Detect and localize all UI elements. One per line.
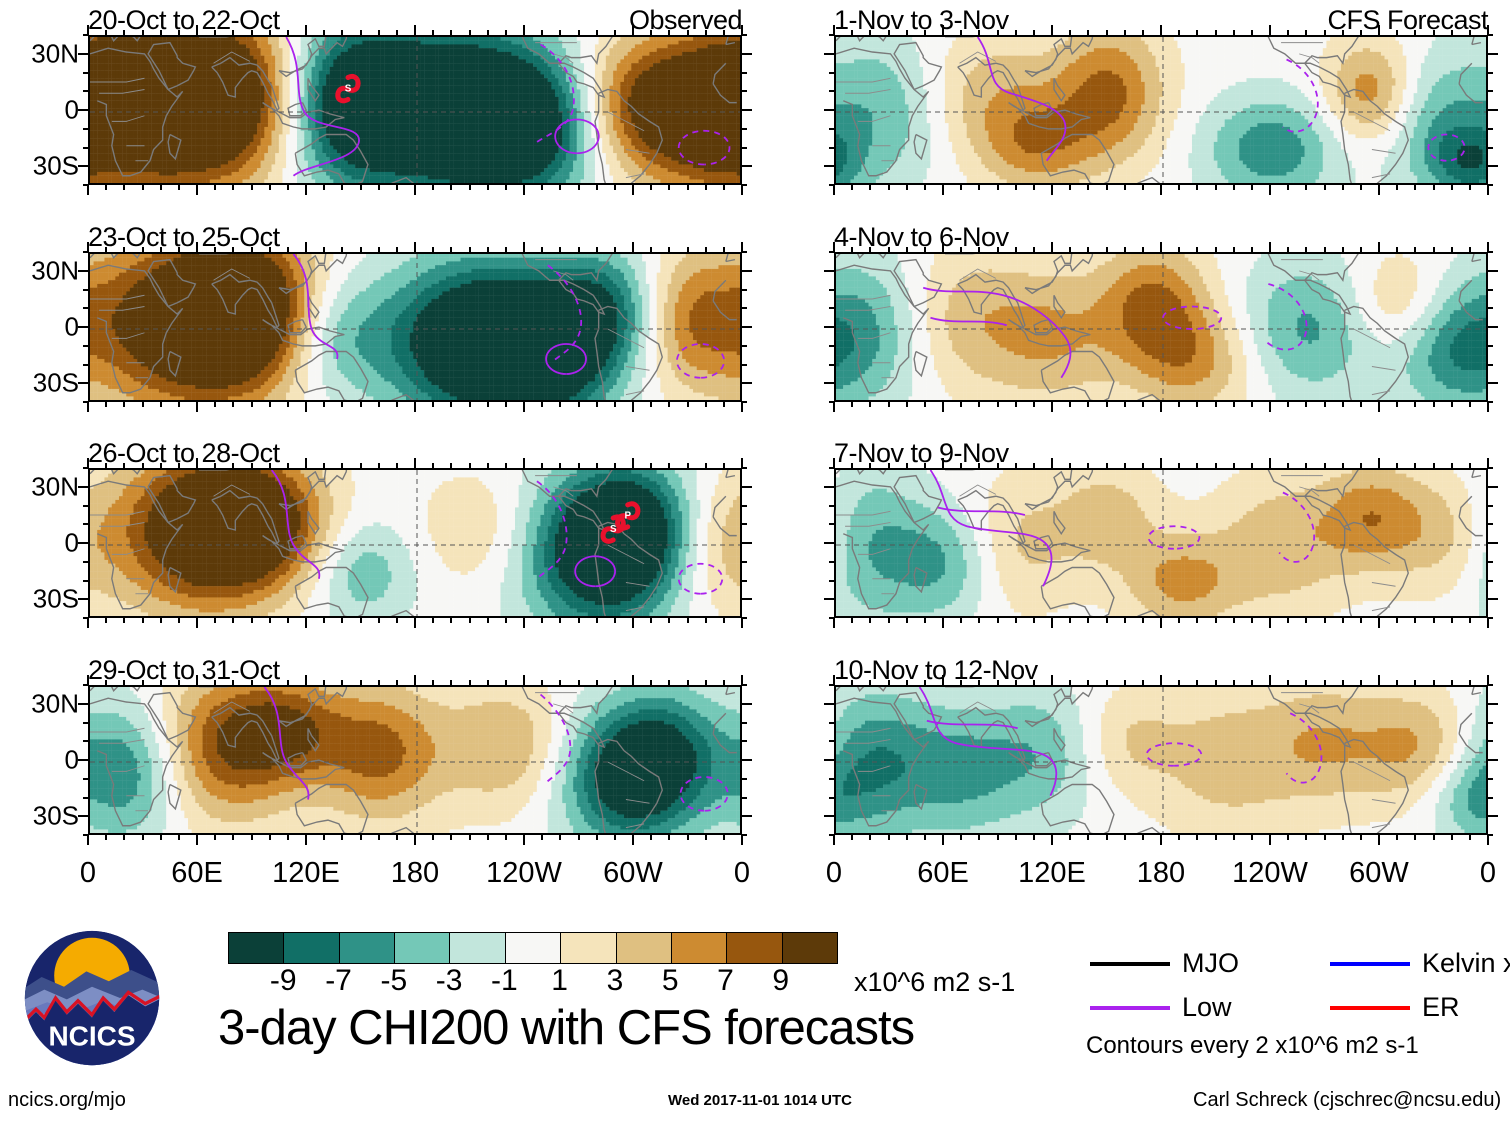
axis-tick: [687, 463, 689, 468]
axis-tick: [214, 185, 216, 190]
axis-tick: [1488, 401, 1493, 403]
axis-tick: [632, 25, 634, 35]
colorbar-swatch-9: [726, 933, 781, 963]
axis-tick: [1069, 463, 1071, 468]
axis-tick: [869, 835, 871, 840]
axis-tick: [742, 684, 747, 686]
axis-tick: [1106, 835, 1108, 840]
axis-tick: [214, 247, 216, 252]
axis-tick: [1342, 680, 1344, 685]
axis-tick: [1469, 402, 1471, 407]
axis-tick: [360, 247, 362, 252]
axis-tick: [924, 185, 926, 190]
axis-tick: [1087, 618, 1089, 623]
axis-tick: [1251, 247, 1253, 252]
axis-tick: [414, 835, 416, 845]
axis-tick: [83, 289, 88, 291]
axis-tick: [1488, 759, 1498, 761]
axis-tick: [742, 778, 747, 780]
axis-tick: [1160, 25, 1162, 35]
axis-tick: [742, 147, 747, 149]
axis-tick: [396, 30, 398, 35]
axis-tick: [1124, 247, 1126, 252]
axis-tick: [396, 618, 398, 623]
axis-tick: [578, 618, 580, 623]
axis-tick: [829, 128, 834, 130]
axis-tick: [960, 835, 962, 840]
axis-tick: [578, 835, 580, 840]
axis-tick: [414, 618, 416, 628]
axis-tick: [196, 242, 198, 252]
axis-tick: [742, 251, 747, 253]
colorbar-tick--5: -5: [380, 964, 407, 998]
axis-tick: [1488, 684, 1493, 686]
axis-tick: [1142, 30, 1144, 35]
axis-tick: [305, 675, 307, 685]
axis-tick: [906, 402, 908, 407]
axis-tick: [1033, 185, 1035, 190]
axis-tick: [906, 463, 908, 468]
axis-tick: [829, 834, 834, 836]
axis-tick: [160, 835, 162, 840]
axis-tick: [824, 53, 834, 55]
axis-tick: [723, 185, 725, 190]
x-tick-label-0: 0: [734, 857, 750, 890]
legend-entry-low: Low: [1090, 992, 1232, 1023]
axis-tick: [487, 835, 489, 840]
axis-tick: [105, 463, 107, 468]
axis-tick: [942, 458, 944, 468]
axis-tick: [360, 30, 362, 35]
axis-tick: [341, 30, 343, 35]
axis-tick: [469, 402, 471, 407]
axis-tick: [1414, 680, 1416, 685]
axis-tick: [1469, 463, 1471, 468]
axis-tick: [541, 835, 543, 840]
axis-tick: [559, 463, 561, 468]
axis-tick: [1360, 247, 1362, 252]
axis-tick: [360, 463, 362, 468]
axis-tick: [960, 247, 962, 252]
axis-tick: [432, 463, 434, 468]
axis-tick: [869, 463, 871, 468]
axis-tick: [1396, 835, 1398, 840]
legend-entry-kelvin-x2: Kelvin x2: [1330, 948, 1510, 979]
axis-tick: [1287, 618, 1289, 623]
axis-tick: [541, 247, 543, 252]
axis-tick: [178, 618, 180, 623]
axis-tick: [1488, 740, 1493, 742]
axis-tick: [869, 30, 871, 35]
axis-tick: [469, 247, 471, 252]
axis-tick: [742, 289, 747, 291]
colorbar-swatch-1: [283, 933, 338, 963]
axis-tick: [1087, 835, 1089, 840]
axis-tick: [1160, 185, 1162, 195]
axis-tick: [1178, 680, 1180, 685]
axis-tick: [469, 618, 471, 623]
axis-tick: [305, 458, 307, 468]
axis-tick: [742, 505, 747, 507]
axis-tick: [1305, 463, 1307, 468]
legend-swatch-line: [1330, 962, 1410, 966]
axis-tick: [632, 618, 634, 628]
axis-tick: [378, 618, 380, 623]
axis-tick: [1360, 835, 1362, 840]
axis-tick: [1378, 835, 1380, 845]
axis-tick: [1324, 247, 1326, 252]
axis-tick: [78, 326, 88, 328]
axis-tick: [396, 463, 398, 468]
axis-tick: [1488, 542, 1498, 544]
axis-tick: [196, 618, 198, 628]
axis-tick: [824, 815, 834, 817]
colorbar-tick--9: -9: [270, 964, 297, 998]
axis-tick: [1233, 835, 1235, 840]
axis-tick: [469, 30, 471, 35]
axis-tick: [523, 185, 525, 195]
y-tick-label-30S: 30S: [33, 151, 79, 182]
axis-tick: [83, 184, 88, 186]
axis-tick: [541, 402, 543, 407]
axis-tick: [378, 30, 380, 35]
axis-tick: [650, 185, 652, 190]
axis-tick: [1269, 458, 1271, 468]
axis-tick: [178, 185, 180, 190]
axis-tick: [742, 703, 752, 705]
axis-tick: [978, 185, 980, 190]
axis-tick: [1378, 185, 1380, 195]
axis-tick: [83, 251, 88, 253]
axis-tick: [378, 402, 380, 407]
legend-swatch-line: [1090, 962, 1170, 966]
map-obs-1: S: [88, 35, 742, 185]
axis-tick: [1451, 463, 1453, 468]
axis-tick: [1106, 618, 1108, 623]
axis-tick: [541, 185, 543, 190]
axis-tick: [1414, 247, 1416, 252]
axis-tick: [1178, 247, 1180, 252]
axis-tick: [742, 523, 747, 525]
axis-tick: [978, 402, 980, 407]
axis-tick: [505, 463, 507, 468]
axis-tick: [1433, 835, 1435, 840]
axis-tick: [1324, 402, 1326, 407]
axis-tick: [1305, 835, 1307, 840]
axis-tick: [1414, 185, 1416, 190]
axis-tick: [705, 30, 707, 35]
axis-tick: [487, 30, 489, 35]
axis-tick: [360, 618, 362, 623]
axis-tick: [824, 270, 834, 272]
axis-tick: [632, 835, 634, 845]
axis-tick: [1342, 185, 1344, 190]
colorbar-swatch-8: [671, 933, 726, 963]
axis-tick: [341, 463, 343, 468]
axis-tick: [978, 618, 980, 623]
axis-tick: [360, 680, 362, 685]
axis-tick: [487, 463, 489, 468]
axis-tick: [559, 680, 561, 685]
axis-tick: [450, 402, 452, 407]
axis-tick: [742, 270, 752, 272]
axis-tick: [396, 402, 398, 407]
axis-tick: [829, 740, 834, 742]
panel-obs-1: 20-Oct to 22-OctObserved30N030SS: [88, 35, 742, 185]
y-tick-label-0: 0: [65, 745, 79, 776]
axis-tick: [614, 185, 616, 190]
colorbar-tick-9: 9: [772, 964, 789, 998]
axis-tick: [596, 618, 598, 623]
axis-tick: [1488, 617, 1493, 619]
axis-tick: [742, 109, 752, 111]
axis-tick: [1033, 30, 1035, 35]
axis-tick: [178, 835, 180, 840]
axis-tick: [924, 618, 926, 623]
axis-tick: [1087, 185, 1089, 190]
axis-tick: [1469, 618, 1471, 623]
axis-tick: [414, 242, 416, 252]
axis-tick: [942, 675, 944, 685]
axis-tick: [997, 30, 999, 35]
axis-tick: [1342, 463, 1344, 468]
x-tick-label-60W: 60W: [1349, 857, 1409, 890]
axis-tick: [829, 617, 834, 619]
axis-tick: [1233, 618, 1235, 623]
axis-tick: [160, 463, 162, 468]
axis-tick: [123, 835, 125, 840]
axis-tick: [742, 486, 752, 488]
axis-tick: [523, 675, 525, 685]
axis-tick: [851, 402, 853, 407]
axis-tick: [487, 402, 489, 407]
axis-tick: [1488, 289, 1493, 291]
axis-tick: [742, 34, 747, 36]
axis-tick: [142, 835, 144, 840]
axis-tick: [1396, 402, 1398, 407]
legend-swatch-line: [1090, 1006, 1170, 1010]
y-tick-label-30N: 30N: [31, 255, 79, 286]
axis-tick: [829, 72, 834, 74]
axis-tick: [1124, 835, 1126, 840]
axis-tick: [829, 684, 834, 686]
axis-tick: [269, 30, 271, 35]
axis-tick: [829, 523, 834, 525]
axis-tick: [450, 463, 452, 468]
y-tick-label-30S: 30S: [33, 368, 79, 399]
axis-tick: [742, 53, 752, 55]
axis-tick: [978, 463, 980, 468]
column-header-left: Observed: [629, 5, 742, 36]
axis-tick: [596, 402, 598, 407]
axis-tick: [869, 247, 871, 252]
axis-tick: [997, 185, 999, 190]
axis-tick: [705, 247, 707, 252]
axis-tick: [1142, 463, 1144, 468]
axis-tick: [78, 109, 88, 111]
axis-tick: [142, 30, 144, 35]
axis-tick: [742, 382, 752, 384]
axis-tick: [1033, 402, 1035, 407]
axis-tick: [178, 680, 180, 685]
axis-tick: [341, 247, 343, 252]
axis-tick: [1287, 835, 1289, 840]
axis-tick: [287, 680, 289, 685]
axis-tick: [1342, 247, 1344, 252]
axis-tick: [1069, 402, 1071, 407]
axis-tick: [78, 598, 88, 600]
axis-tick: [160, 680, 162, 685]
axis-tick: [378, 185, 380, 190]
axis-tick: [1287, 680, 1289, 685]
axis-tick: [705, 185, 707, 190]
axis-tick: [1251, 402, 1253, 407]
axis-tick: [341, 618, 343, 623]
footer-site-url[interactable]: ncics.org/mjo: [8, 1089, 126, 1112]
axis-tick: [160, 247, 162, 252]
axis-tick: [541, 463, 543, 468]
axis-tick: [269, 402, 271, 407]
axis-tick: [432, 247, 434, 252]
axis-tick: [1433, 463, 1435, 468]
axis-tick: [87, 402, 89, 412]
axis-tick: [1233, 30, 1235, 35]
axis-tick: [87, 618, 89, 628]
axis-tick: [469, 680, 471, 685]
panel-obs-2: 23-Oct to 25-Oct30N030S: [88, 252, 742, 402]
axis-tick: [487, 618, 489, 623]
axis-tick: [1305, 402, 1307, 407]
axis-tick: [1124, 618, 1126, 623]
main-title: 3-day CHI200 with CFS forecasts: [218, 1000, 914, 1056]
axis-tick: [1433, 247, 1435, 252]
axis-tick: [214, 30, 216, 35]
axis-tick: [83, 401, 88, 403]
axis-tick: [632, 242, 634, 252]
colorbar-tick--1: -1: [491, 964, 518, 998]
axis-tick: [432, 30, 434, 35]
legend-label: MJO: [1182, 948, 1239, 979]
map-obs-4: [88, 685, 742, 835]
axis-tick: [396, 835, 398, 840]
axis-tick: [83, 147, 88, 149]
axis-tick: [687, 680, 689, 685]
axis-tick: [505, 402, 507, 407]
axis-tick: [1142, 835, 1144, 840]
axis-tick: [614, 402, 616, 407]
x-tick-label-120W: 120W: [486, 857, 562, 890]
axis-tick: [851, 835, 853, 840]
axis-tick: [1396, 30, 1398, 35]
axis-tick: [1487, 835, 1489, 845]
axis-tick: [978, 247, 980, 252]
axis-tick: [1287, 463, 1289, 468]
axis-tick: [742, 759, 752, 761]
axis-tick: [432, 618, 434, 623]
axis-tick: [1142, 680, 1144, 685]
axis-tick: [214, 618, 216, 623]
axis-tick: [378, 463, 380, 468]
axis-tick: [123, 618, 125, 623]
axis-tick: [1069, 247, 1071, 252]
axis-tick: [960, 402, 962, 407]
panel-fcst-1: 1-Nov to 3-NovCFS Forecast: [834, 35, 1488, 185]
axis-tick: [1324, 680, 1326, 685]
axis-tick: [341, 185, 343, 190]
axis-tick: [251, 30, 253, 35]
axis-tick: [105, 618, 107, 623]
axis-tick: [596, 835, 598, 840]
axis-tick: [906, 618, 908, 623]
axis-tick: [997, 247, 999, 252]
axis-tick: [1414, 835, 1416, 840]
axis-tick: [1160, 458, 1162, 468]
axis-tick: [1033, 835, 1035, 840]
axis-tick: [269, 185, 271, 190]
axis-tick: [1033, 680, 1035, 685]
axis-tick: [178, 402, 180, 407]
axis-tick: [1342, 30, 1344, 35]
axis-tick: [251, 680, 253, 685]
axis-tick: [997, 463, 999, 468]
axis-tick: [687, 402, 689, 407]
axis-tick: [232, 618, 234, 623]
axis-tick: [596, 463, 598, 468]
axis-tick: [723, 247, 725, 252]
y-tick-label-0: 0: [65, 312, 79, 343]
axis-tick: [906, 680, 908, 685]
axis-tick: [1087, 30, 1089, 35]
axis-tick: [742, 326, 752, 328]
axis-tick: [1378, 242, 1380, 252]
axis-tick: [360, 185, 362, 190]
axis-tick: [251, 835, 253, 840]
axis-tick: [978, 30, 980, 35]
axis-tick: [232, 463, 234, 468]
axis-tick: [1324, 185, 1326, 190]
axis-tick: [650, 835, 652, 840]
axis-tick: [559, 30, 561, 35]
axis-tick: [432, 402, 434, 407]
axis-tick: [269, 618, 271, 623]
axis-tick: [614, 247, 616, 252]
axis-tick: [650, 618, 652, 623]
axis-tick: [1051, 675, 1053, 685]
axis-tick: [305, 242, 307, 252]
axis-tick: [632, 185, 634, 195]
axis-tick: [829, 561, 834, 563]
axis-tick: [1142, 618, 1144, 623]
axis-tick: [142, 680, 144, 685]
axis-tick: [523, 402, 525, 412]
colorbar-swatch-3: [394, 933, 449, 963]
axis-tick: [559, 402, 561, 407]
axis-tick: [1069, 835, 1071, 840]
axis-tick: [432, 835, 434, 840]
axis-tick: [824, 542, 834, 544]
axis-tick: [851, 247, 853, 252]
axis-tick: [829, 184, 834, 186]
axis-tick: [960, 680, 962, 685]
axis-tick: [1451, 680, 1453, 685]
axis-tick: [829, 90, 834, 92]
axis-tick: [1160, 402, 1162, 412]
axis-tick: [668, 402, 670, 407]
axis-tick: [1106, 30, 1108, 35]
axis-tick: [942, 242, 944, 252]
x-tick-label-60E: 60E: [917, 857, 969, 890]
axis-tick: [1469, 835, 1471, 840]
